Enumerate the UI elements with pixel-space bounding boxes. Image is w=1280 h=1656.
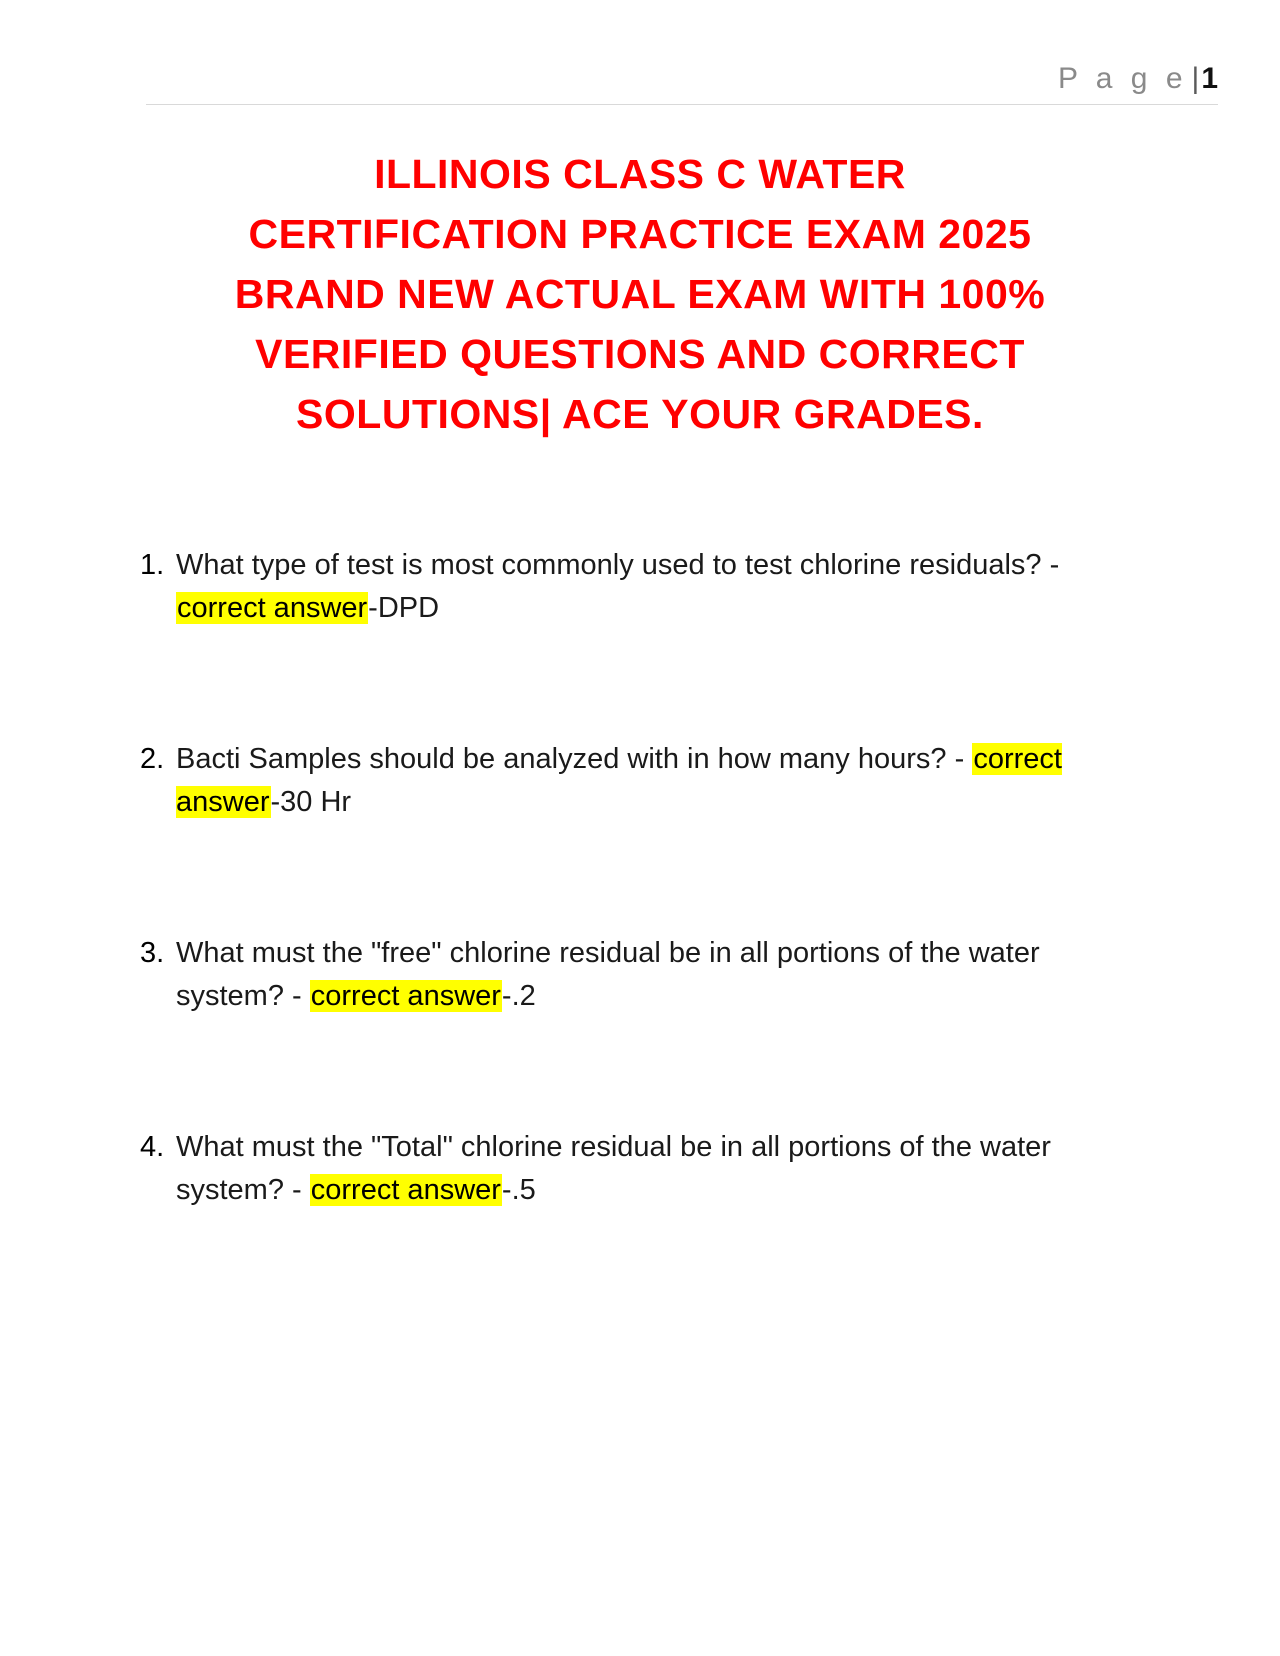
document-page: P a g e | 1 ILLINOIS CLASS C WATER CERTI…: [0, 0, 1280, 1656]
question-text: What must the "free" chlorine residual b…: [176, 932, 1120, 1018]
question-text: What type of test is most commonly used …: [176, 544, 1120, 630]
title-line-5: SOLUTIONS| ACE YOUR GRADES.: [190, 384, 1090, 444]
page-separator: |: [1188, 62, 1202, 96]
title-line-3: BRAND NEW ACTUAL EXAM WITH 100%: [190, 264, 1090, 324]
question-number: 1.: [140, 544, 164, 587]
title-line-1: ILLINOIS CLASS C WATER: [190, 144, 1090, 204]
question-prompt: What must the "free" chlorine residual b…: [176, 937, 1040, 1012]
correct-answer-marker: correct answer: [310, 980, 502, 1012]
document-title: ILLINOIS CLASS C WATER CERTIFICATION PRA…: [190, 144, 1090, 444]
question-number: 4.: [140, 1126, 164, 1169]
title-line-4: VERIFIED QUESTIONS AND CORRECT: [190, 324, 1090, 384]
answer-value: -DPD: [368, 592, 439, 624]
page-number: 1: [1201, 62, 1218, 96]
question-prompt: What must the "Total" chlorine residual …: [176, 1131, 1051, 1206]
list-item: 4. What must the "Total" chlorine residu…: [0, 1126, 1280, 1212]
question-text: Bacti Samples should be analyzed with in…: [176, 738, 1120, 824]
question-number: 3.: [140, 932, 164, 975]
question-text: What must the "Total" chlorine residual …: [176, 1126, 1120, 1212]
correct-answer-marker: correct answer: [176, 592, 368, 624]
header-rule: P a g e | 1: [146, 62, 1218, 105]
question-prompt: Bacti Samples should be analyzed with in…: [176, 743, 964, 775]
question-number: 2.: [140, 738, 164, 781]
list-item: 2. Bacti Samples should be analyzed with…: [0, 738, 1280, 824]
question-prompt: What type of test is most commonly used …: [176, 549, 1059, 581]
title-line-2: CERTIFICATION PRACTICE EXAM 2025: [190, 204, 1090, 264]
question-list: 1. What type of test is most commonly us…: [0, 544, 1280, 1212]
answer-value: -.5: [502, 1174, 536, 1206]
answer-value: -30 Hr: [271, 786, 352, 818]
page-label: P a g e: [1058, 62, 1188, 96]
answer-value: -.2: [502, 980, 536, 1012]
correct-answer-marker: correct answer: [310, 1174, 502, 1206]
list-item: 3. What must the "free" chlorine residua…: [0, 932, 1280, 1018]
page-header: P a g e | 1: [0, 0, 1280, 110]
list-item: 1. What type of test is most commonly us…: [0, 544, 1280, 630]
